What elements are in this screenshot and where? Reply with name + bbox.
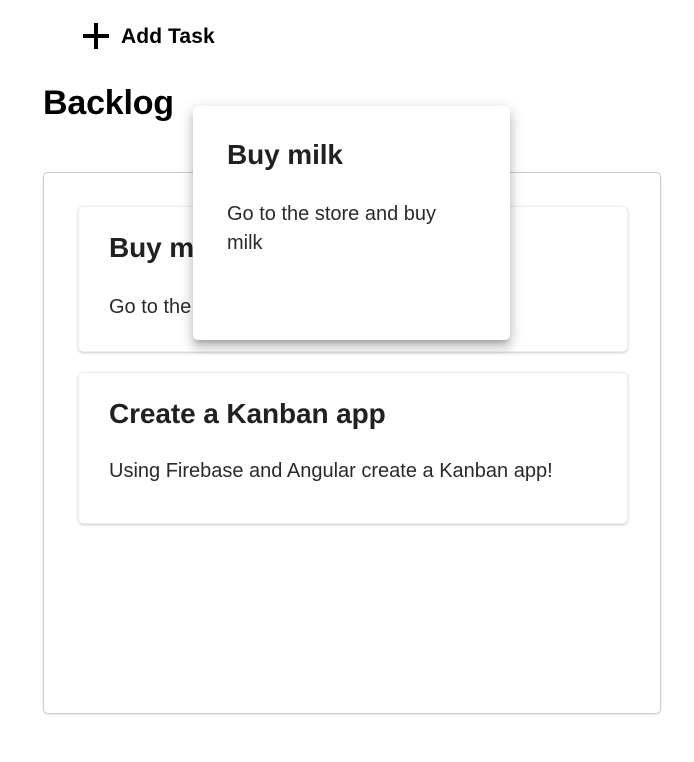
plus-icon — [83, 23, 109, 49]
drag-preview-title: Buy milk — [227, 138, 476, 172]
task-card-description: Using Firebase and Angular create a Kanb… — [109, 457, 597, 485]
kanban-board: Add Task Backlog Buy milk Go to the stor… — [0, 0, 694, 762]
drag-preview-description: Go to the store and buy milk — [227, 200, 476, 258]
column-title-backlog: Backlog — [43, 84, 174, 123]
task-card[interactable]: Create a Kanban app Using Firebase and A… — [78, 372, 628, 524]
task-card-title: Create a Kanban app — [109, 397, 597, 431]
drag-preview-card[interactable]: Buy milk Go to the store and buy milk — [193, 106, 510, 340]
add-task-button[interactable]: Add Task — [83, 23, 215, 49]
add-task-label: Add Task — [121, 26, 215, 47]
